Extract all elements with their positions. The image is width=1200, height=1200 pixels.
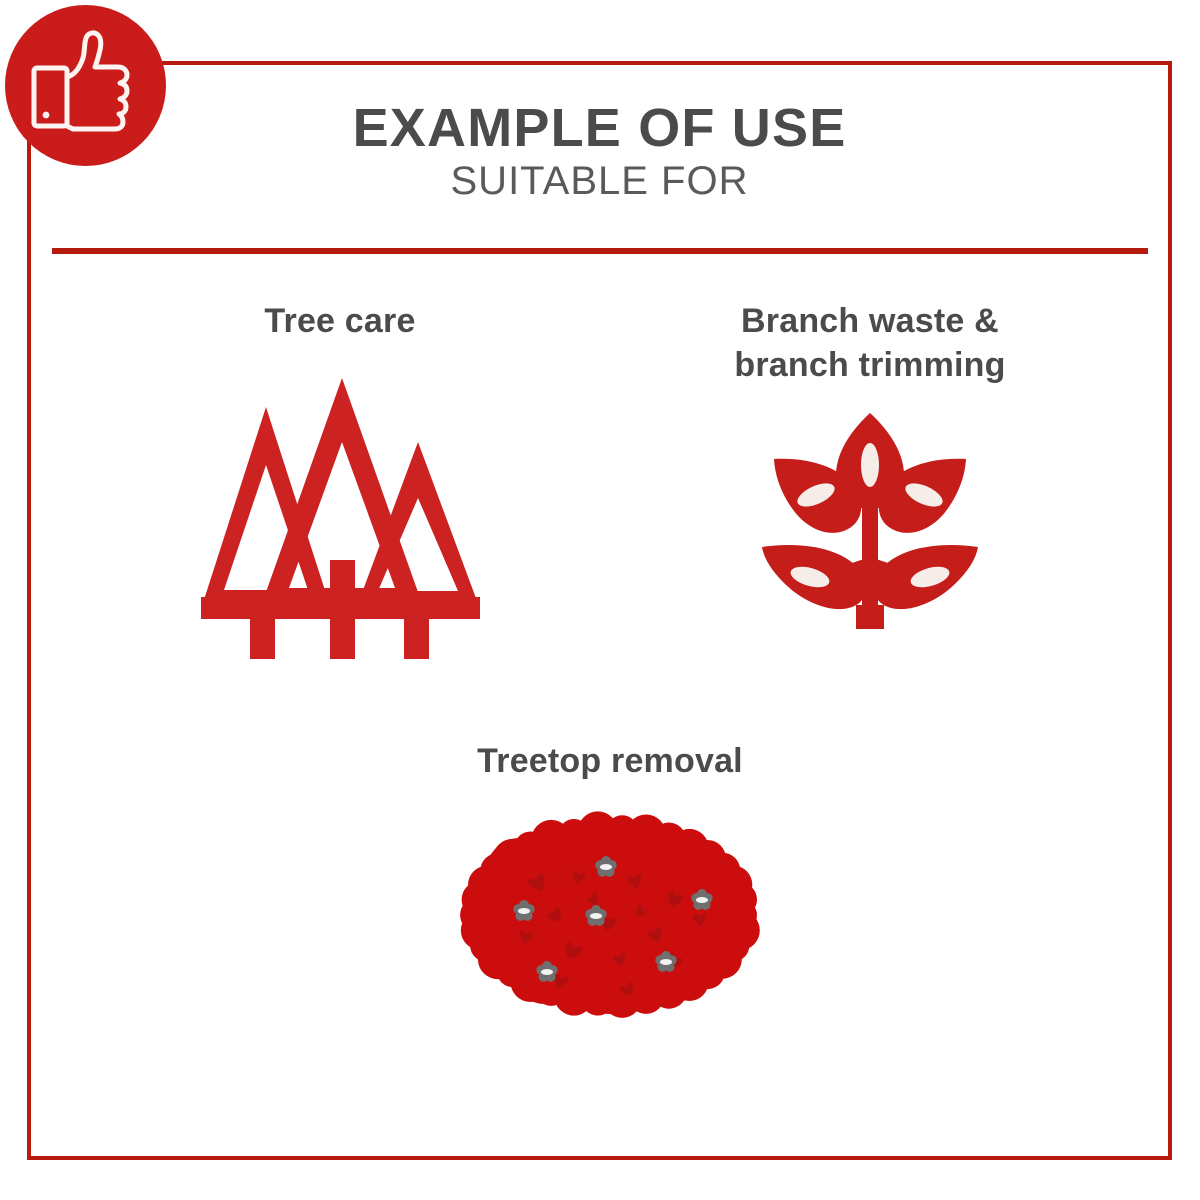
tree-crown-bush-icon — [460, 812, 760, 1017]
item-treetop-removal: Treetop removal — [330, 740, 890, 1017]
item-branch-waste-art — [620, 407, 1120, 635]
item-tree-care: Tree care — [60, 300, 620, 662]
page-title: EXAMPLE OF USE — [27, 101, 1172, 155]
item-tree-care-art — [60, 372, 620, 662]
leafy-branch-icon — [756, 407, 984, 635]
header: EXAMPLE OF USE SUITABLE FOR — [27, 61, 1172, 256]
page-subtitle: SUITABLE FOR — [27, 161, 1172, 201]
item-tree-care-label: Tree care — [60, 300, 620, 344]
item-branch-waste-label-line1: Branch waste & — [620, 300, 1120, 344]
thumbs-up-badge — [5, 5, 166, 166]
item-treetop-removal-label: Treetop removal — [330, 740, 890, 784]
thumbs-up-icon — [5, 5, 166, 166]
header-divider — [52, 248, 1148, 254]
item-branch-waste: Branch waste & branch trimming — [620, 300, 1120, 635]
item-treetop-removal-art — [330, 812, 890, 1017]
three-conifer-trees-icon — [190, 372, 490, 662]
item-branch-waste-label-line2: branch trimming — [620, 344, 1120, 388]
item-branch-waste-label: Branch waste & branch trimming — [620, 300, 1120, 387]
